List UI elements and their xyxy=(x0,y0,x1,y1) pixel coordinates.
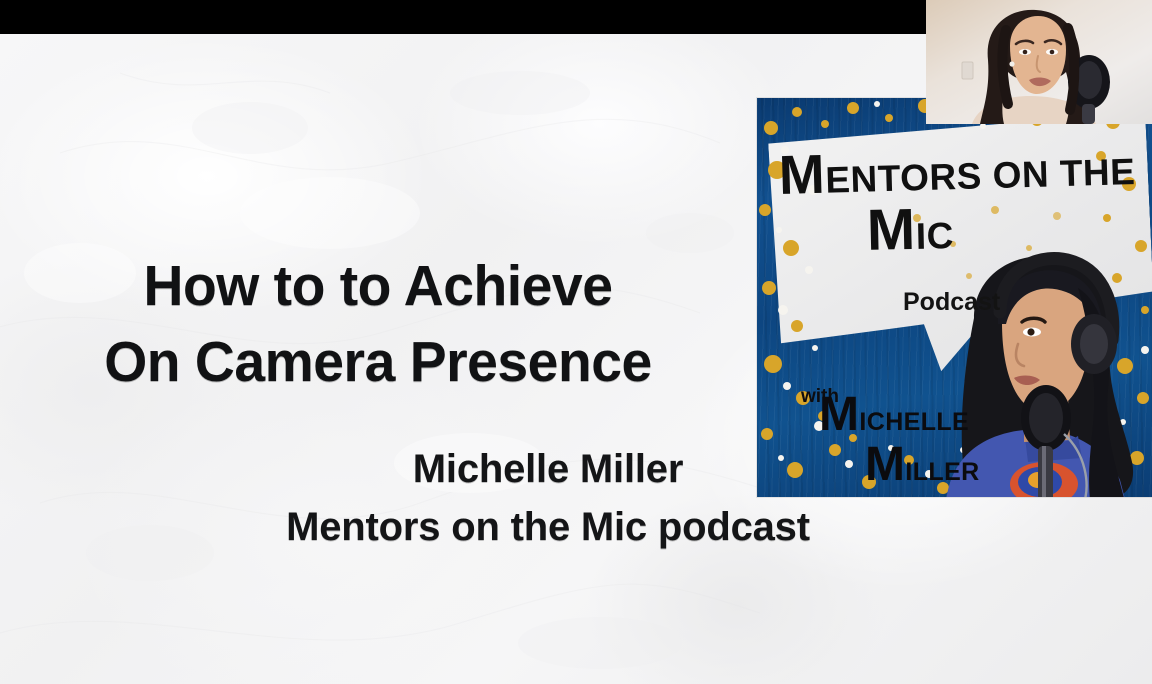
cover-art-format-label: Podcast xyxy=(903,288,1000,317)
cover-art-title-initial-1: M xyxy=(778,143,826,206)
cover-art-title-line-1: MENTORS ON THE xyxy=(778,151,1139,203)
video-frame: How to to Achieve On Camera Presence Mic… xyxy=(0,0,1152,684)
webcam-video-feed xyxy=(926,0,1152,124)
cover-art-title-line-2: MIC xyxy=(867,215,955,259)
cover-art-host-last-name: MILLER xyxy=(865,458,980,487)
cover-art-host-first-rest: ICHELLE xyxy=(859,408,969,436)
letterbox-bar-top xyxy=(0,0,926,34)
cover-art-title-rest-1: ENTORS ON THE xyxy=(825,151,1136,201)
cover-art-title-initial-2: M xyxy=(866,197,916,263)
slide-subtitle-line-2: Mentors on the Mic podcast xyxy=(0,498,1096,556)
cover-art-text: MENTORS ON THE MIC Podcast with MICHELLE… xyxy=(757,98,1152,497)
slide-title: How to to Achieve On Camera Presence xyxy=(0,248,756,400)
cover-art-host-last-initial: M xyxy=(865,438,905,491)
cover-art-title-rest-2: IC xyxy=(915,215,954,257)
slide-title-line-2: On Camera Presence xyxy=(11,324,744,400)
cover-art-host-first-initial: M xyxy=(819,388,859,441)
cover-art-host-last-rest: ILLER xyxy=(905,458,979,486)
cover-art-host-first-name: MICHELLE xyxy=(819,408,969,437)
webcam-overlay[interactable] xyxy=(926,0,1152,124)
podcast-cover-art: MENTORS ON THE MIC Podcast with MICHELLE… xyxy=(757,98,1152,497)
slide-title-line-1: How to to Achieve xyxy=(11,248,744,324)
